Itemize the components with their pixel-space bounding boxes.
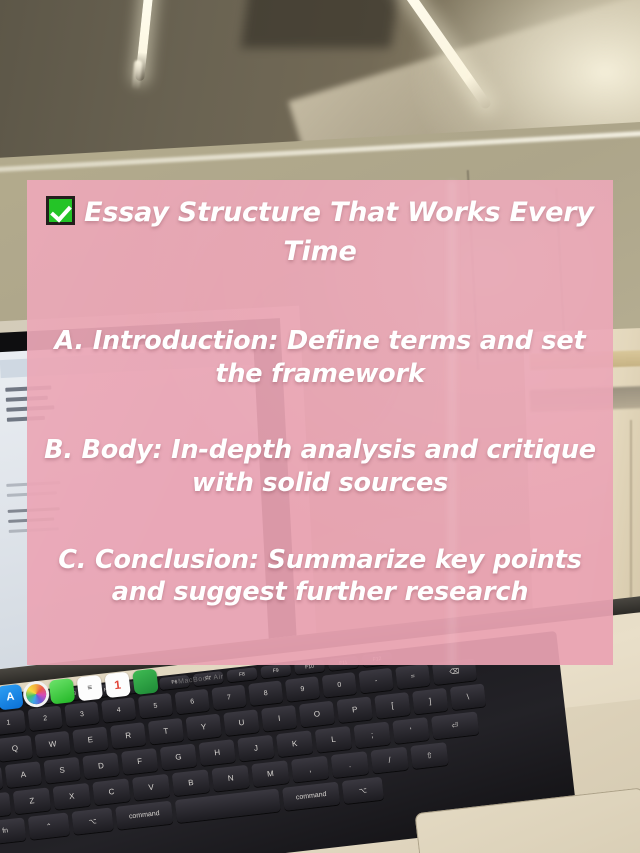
key--[interactable]: - [358, 668, 393, 694]
key-⌃[interactable]: ⌃ [28, 812, 70, 839]
ceiling-vent [241, 0, 399, 48]
key-command[interactable]: command [115, 801, 173, 830]
key-⌥[interactable]: ⌥ [71, 807, 113, 834]
key-c[interactable]: C [92, 778, 130, 805]
key-][interactable]: ] [412, 688, 448, 715]
key-w[interactable]: W [34, 731, 70, 758]
check-mark-button-icon [46, 196, 75, 235]
key-\[interactable]: \ [450, 683, 486, 710]
key-z[interactable]: Z [13, 787, 51, 814]
key-b[interactable]: B [172, 769, 210, 796]
key-s[interactable]: S [43, 757, 80, 784]
key-.[interactable]: . [331, 751, 369, 778]
key-x[interactable]: X [53, 783, 91, 810]
key-v[interactable]: V [132, 774, 170, 801]
photo-scene: escF1F2F3F4F5F6F7F8F9F10F11F12~123456789… [0, 0, 640, 853]
card-item-conclusion: C. Conclusion: Summarize key points and … [41, 544, 599, 609]
card-item-introduction: A. Introduction: Define terms and set th… [41, 325, 599, 390]
key-f8[interactable]: F8 [226, 667, 257, 682]
photos-icon[interactable] [25, 683, 47, 705]
card-headline: Essay Structure That Works Every Time [41, 196, 599, 269]
key-a[interactable]: A [5, 761, 42, 788]
card-headline-text: Essay Structure That Works Every Time [84, 197, 594, 267]
key-h[interactable]: H [198, 739, 235, 766]
key-i[interactable]: I [261, 705, 297, 732]
key-⏎[interactable]: ⏎ [431, 712, 479, 740]
key-⌥[interactable]: ⌥ [342, 777, 384, 804]
key-fn[interactable]: fn [0, 817, 26, 844]
key-y[interactable]: Y [185, 714, 221, 741]
key-=[interactable]: = [395, 664, 430, 690]
key-f9[interactable]: F9 [260, 663, 291, 678]
key-'[interactable]: ' [392, 717, 429, 744]
messages-icon[interactable] [49, 678, 76, 705]
key-f[interactable]: F [121, 748, 158, 775]
key-m[interactable]: M [251, 760, 289, 787]
key-j[interactable]: J [237, 735, 274, 762]
key-6[interactable]: 6 [175, 689, 210, 715]
card-item-body: B. Body: In-depth analysis and critique … [41, 434, 599, 499]
key-⇧[interactable]: ⇧ [410, 742, 448, 769]
key-r[interactable]: R [110, 722, 146, 749]
key-o[interactable]: O [299, 701, 335, 728]
dock-app-icon[interactable] [132, 668, 159, 695]
key-q[interactable]: Q [0, 735, 33, 762]
key-0[interactable]: 0 [322, 672, 357, 698]
key-d[interactable]: D [82, 752, 119, 779]
key-7[interactable]: 7 [211, 685, 246, 711]
key-l[interactable]: L [315, 726, 352, 753]
reminders-icon[interactable]: ≡ [77, 675, 104, 702]
key-[[interactable]: [ [374, 692, 410, 719]
key-8[interactable]: 8 [248, 680, 283, 706]
key-⇧[interactable]: ⇧ [0, 792, 11, 819]
key-command[interactable]: command [282, 782, 340, 811]
key-5[interactable]: 5 [138, 693, 173, 719]
key-p[interactable]: P [337, 696, 373, 723]
text-overlay-card: Essay Structure That Works Every Time A.… [27, 180, 613, 665]
key-/[interactable]: / [370, 747, 408, 774]
key-;[interactable]: ; [353, 722, 390, 749]
key-9[interactable]: 9 [285, 676, 320, 702]
key-e[interactable]: E [72, 727, 108, 754]
key-g[interactable]: G [160, 744, 197, 771]
app-store-icon[interactable]: A [0, 684, 24, 711]
key-u[interactable]: U [223, 709, 259, 736]
key-⇪[interactable]: ⇪ [0, 766, 3, 793]
key-k[interactable]: K [276, 730, 313, 757]
key-t[interactable]: T [148, 718, 184, 745]
key-,[interactable]: , [291, 756, 329, 783]
calendar-icon[interactable]: 1 [104, 672, 131, 699]
key-n[interactable]: N [211, 765, 249, 792]
